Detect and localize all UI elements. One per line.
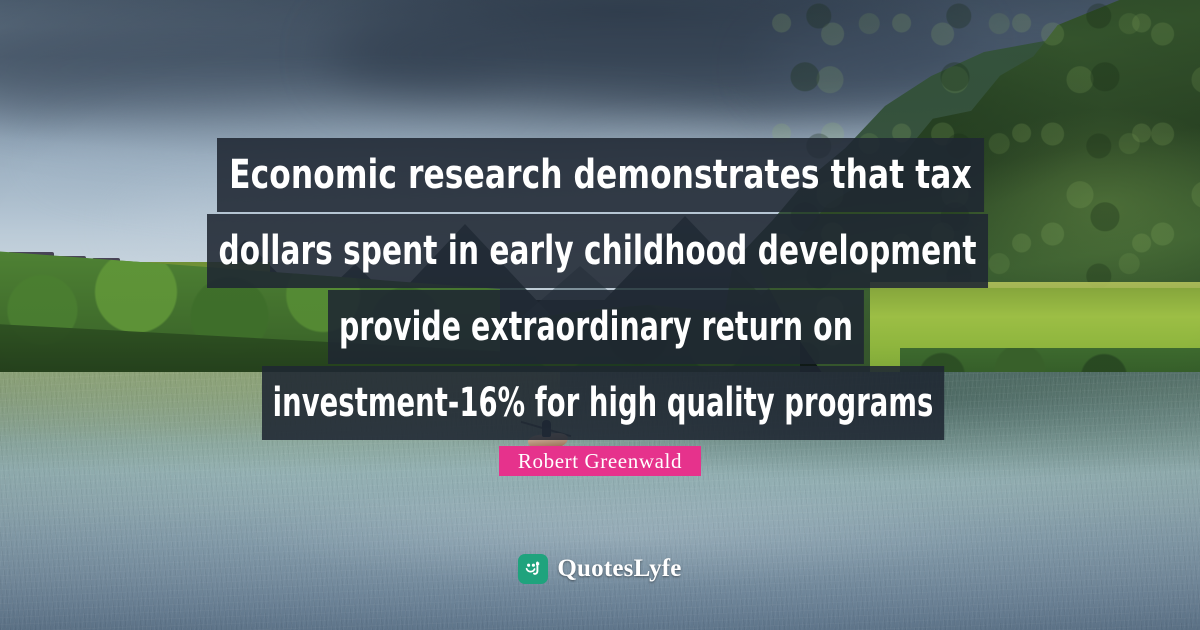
quote-line-row: dollars spent in early childhood develop… (0, 214, 781, 288)
quote-line-4: investment-16% for high quality programs (262, 366, 944, 440)
quote-card: Economic research demonstrates that tax … (0, 0, 1200, 630)
quote-text-block: Economic research demonstrates that tax … (0, 138, 1200, 440)
quote-line-row: provide extraordinary return on (0, 290, 536, 364)
smiley-quote-icon (518, 554, 548, 584)
quote-line-3: provide extraordinary return on (328, 290, 864, 364)
quote-line-2: dollars spent in early childhood develop… (207, 214, 988, 288)
author-name-badge: Robert Greenwald (499, 446, 701, 476)
quote-line-1: Economic research demonstrates that tax (217, 138, 984, 212)
brand-logo[interactable]: QuotesLyfe (0, 554, 1200, 584)
author-attribution: Robert Greenwald (0, 446, 1200, 476)
quote-line-row: Economic research demonstrates that tax (0, 138, 767, 212)
quote-line-row: investment-16% for high quality programs (0, 366, 682, 440)
brand-name: QuotesLyfe (557, 554, 681, 584)
